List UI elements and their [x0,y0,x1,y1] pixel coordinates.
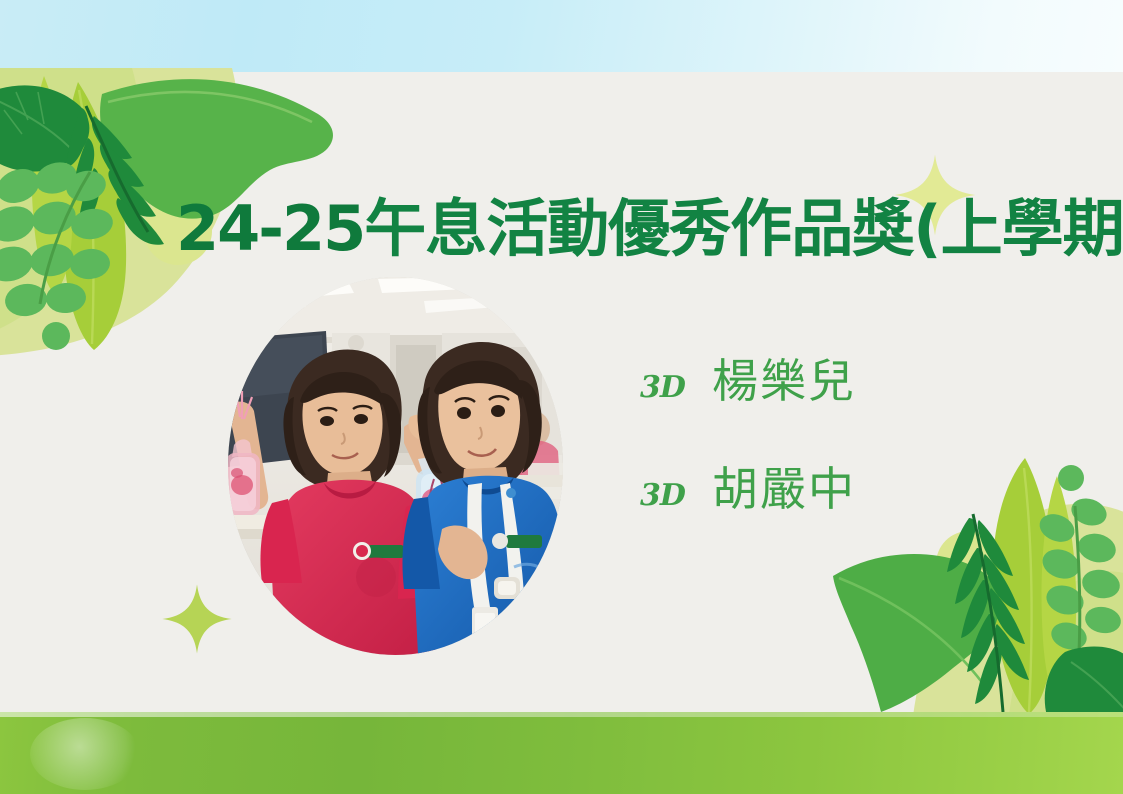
awardee-name: 胡嚴中 [712,453,856,519]
award-photo [228,277,563,655]
photo-illustration [228,277,563,655]
awardee-class: 3D [640,370,712,405]
title-year-range: 24-25 [176,192,364,265]
top-blue-band [0,0,1123,72]
awardee-list: 3D 楊樂兒 3D 胡嚴中 [640,345,856,561]
list-item: 3D 楊樂兒 [640,345,856,411]
slide-canvas: 24-25午息活動優秀作品獎(上學期) [0,0,1123,794]
bottom-green-band [0,712,1123,794]
awardee-class: 3D [640,478,712,513]
sparkle-icon [161,583,233,655]
awardee-name: 楊樂兒 [712,345,856,411]
list-item: 3D 胡嚴中 [640,453,856,519]
page-title: 24-25午息活動優秀作品獎(上學期) [176,198,1123,260]
title-text: 午息活動優秀作品獎(上學期) [364,192,1123,265]
